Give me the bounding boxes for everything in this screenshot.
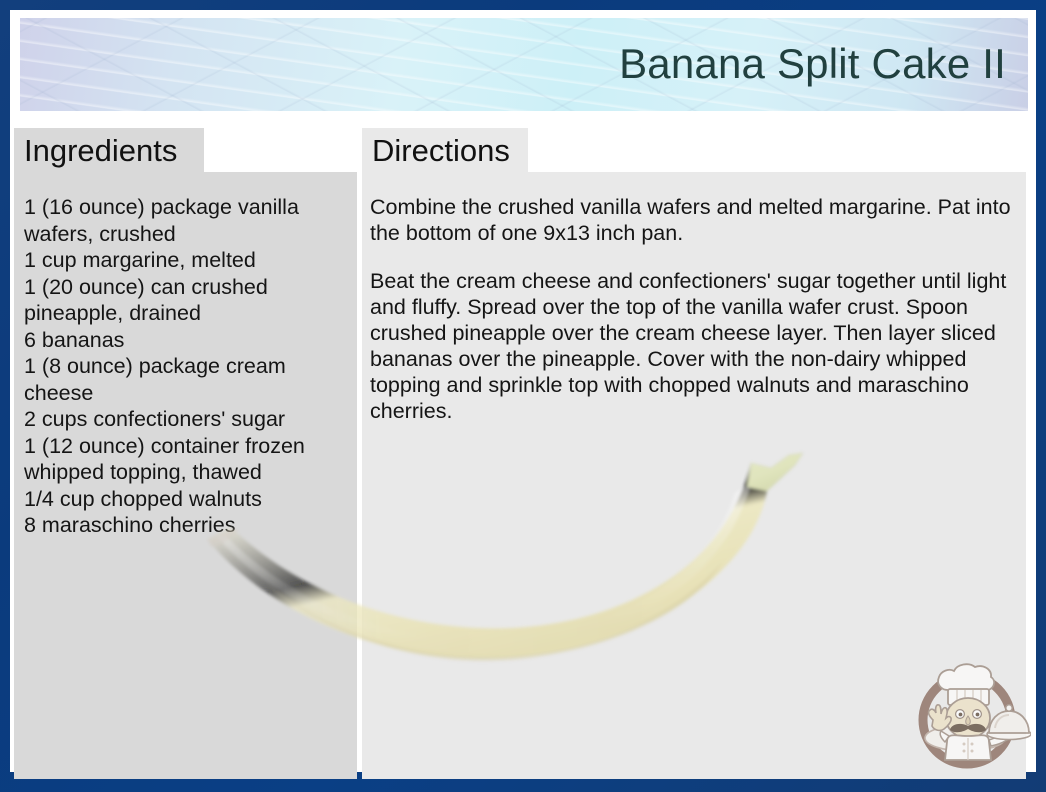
recipe-slide: Banana Split Cake II Ingredients Directi… <box>0 0 1046 792</box>
tab-directions-label: Directions <box>362 135 510 166</box>
tab-directions[interactable]: Directions <box>362 128 528 172</box>
ingredient-item: 1 (8 ounce) package cream cheese <box>24 353 342 406</box>
ingredient-item: 8 maraschino cherries <box>24 512 342 539</box>
ingredient-item: 1 (16 ounce) package vanilla wafers, cru… <box>24 194 342 247</box>
ingredient-item: 6 bananas <box>24 327 342 354</box>
ingredient-item: 1/4 cup chopped walnuts <box>24 486 342 513</box>
directions-paragraph: Combine the crushed vanilla wafers and m… <box>370 194 1018 246</box>
ingredient-item: 1 (12 ounce) container frozen whipped to… <box>24 433 342 486</box>
tab-ingredients[interactable]: Ingredients <box>14 128 204 172</box>
tab-ingredients-label: Ingredients <box>14 135 177 166</box>
ingredient-item: 1 cup margarine, melted <box>24 247 342 274</box>
directions-text: Combine the crushed vanilla wafers and m… <box>370 194 1018 424</box>
ingredient-item: 2 cups confectioners' sugar <box>24 406 342 433</box>
header-banner: Banana Split Cake II <box>20 18 1028 111</box>
ingredient-item: 1 (20 ounce) can crushed pineapple, drai… <box>24 274 342 327</box>
ingredients-list: 1 (16 ounce) package vanilla wafers, cru… <box>24 194 342 539</box>
directions-paragraph: Beat the cream cheese and confectioners'… <box>370 268 1018 424</box>
ingredients-panel: 1 (16 ounce) package vanilla wafers, cru… <box>14 172 357 779</box>
chef-logo-icon <box>903 650 1031 778</box>
page-title: Banana Split Cake II <box>619 40 1006 88</box>
